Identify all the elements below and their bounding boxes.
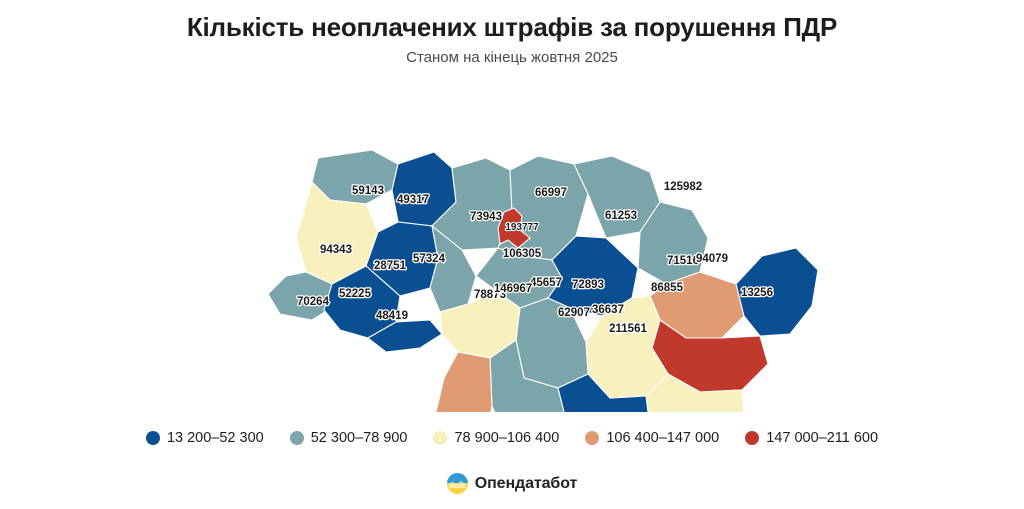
legend-label-bin2: 52 300–78 900 [311, 430, 408, 446]
infographic-page: Кількість неоплачених штрафів за порушен… [0, 0, 1024, 509]
legend-label-bin1: 13 200–52 300 [167, 430, 264, 446]
page-title: Кількість неоплачених штрафів за порушен… [0, 12, 1024, 42]
label-rivne: 49317 [397, 194, 429, 206]
legend-label-bin5: 147 000–211 600 [766, 430, 878, 446]
page-subtitle: Станом на кінець жовтня 2025 [0, 49, 1024, 67]
legend-item-bin2[interactable]: 52 300–78 900 [290, 430, 408, 446]
legend-swatch-bin4 [585, 431, 599, 445]
legend-swatch-bin2 [290, 431, 304, 445]
label-vinnytsia: 106305 [503, 248, 542, 260]
legend-swatch-bin1 [146, 431, 160, 445]
label-kharkiv: 125982 [664, 181, 702, 193]
label-lviv: 94343 [320, 244, 352, 256]
legend-item-bin1[interactable]: 13 200–52 300 [146, 430, 264, 446]
choropleth-map: 59143 49317 73943 66997 61253 94343 2875… [0, 72, 1024, 412]
brand-footer: Опендатабот [0, 473, 1024, 494]
label-odesa: 146967 [494, 283, 532, 295]
label-kyiv-oblast: 66997 [535, 187, 567, 199]
legend: 13 200–52 300 52 300–78 900 78 900–106 4… [0, 430, 1024, 446]
legend-item-bin3[interactable]: 78 900–106 400 [433, 430, 559, 446]
legend-label-bin3: 78 900–106 400 [454, 430, 559, 446]
label-sumy: 71516 [667, 255, 699, 267]
label-dnipro: 86855 [651, 282, 684, 294]
label-kyiv-city: 193777 [505, 222, 539, 233]
legend-item-bin5[interactable]: 147 000–211 600 [745, 430, 878, 446]
legend-label-bin4: 106 400–147 000 [606, 430, 719, 446]
label-zakarpattia: 70264 [297, 296, 330, 308]
label-luhansk: 13256 [741, 287, 773, 299]
label-zaporizhzhia: 94079 [696, 253, 728, 265]
chart-header: Кількість неоплачених штрафів за порушен… [0, 12, 1024, 67]
label-volyn: 59143 [352, 185, 384, 197]
brand-name: Опендатабот [475, 475, 577, 493]
label-zhytomyr: 73943 [470, 211, 502, 223]
label-khmelnytskyi: 57324 [413, 253, 446, 265]
label-mykolaiv: 72893 [572, 279, 604, 291]
label-ivano-frankivsk: 52225 [339, 288, 372, 300]
legend-swatch-bin5 [745, 431, 759, 445]
label-chernivtsi: 48419 [376, 310, 408, 322]
label-kherson: 36637 [592, 304, 624, 316]
region-odesa[interactable] [428, 352, 492, 412]
label-ternopil: 28751 [374, 260, 407, 272]
label-donetsk: 211561 [609, 323, 647, 335]
legend-item-bin4[interactable]: 106 400–147 000 [585, 430, 719, 446]
label-chernihiv: 61253 [605, 210, 637, 222]
legend-swatch-bin3 [433, 431, 447, 445]
map-svg: 59143 49317 73943 66997 61253 94343 2875… [0, 72, 1024, 412]
label-kirovohrad: 62907 [558, 307, 590, 319]
opendatabot-logo-icon [447, 473, 468, 494]
label-poltava: 45657 [530, 277, 562, 289]
